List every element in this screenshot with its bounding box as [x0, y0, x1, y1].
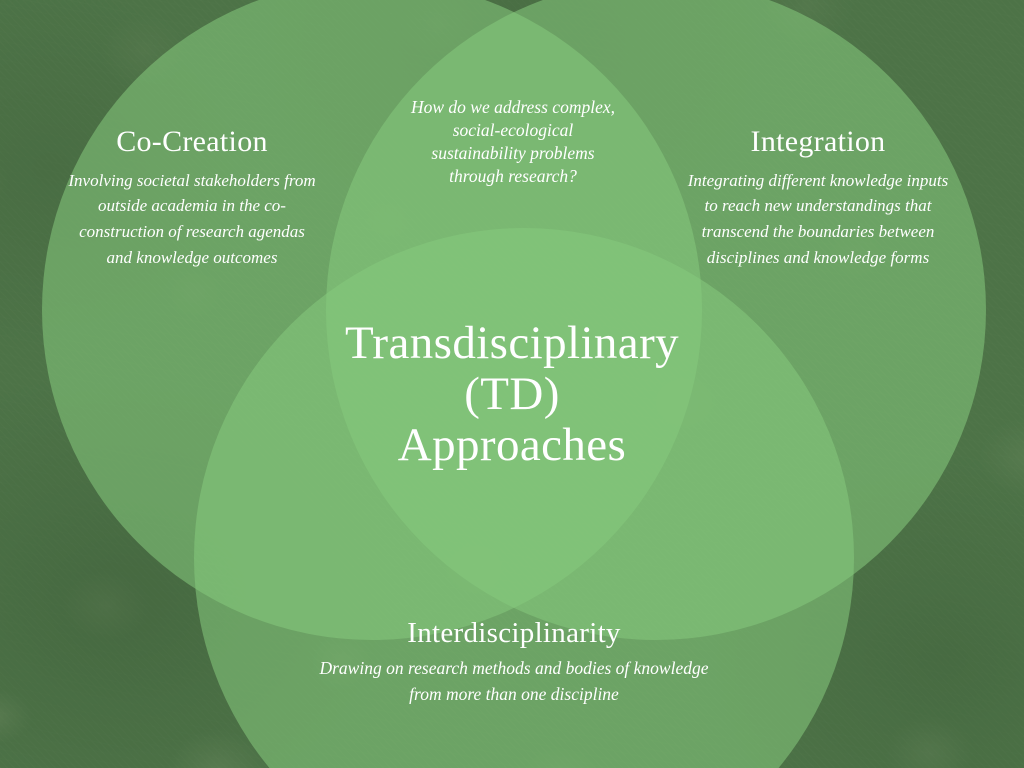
question-line-4: through research?: [449, 166, 577, 186]
center-title-line-1: Transdisciplinary: [345, 317, 679, 369]
description-interdisciplinarity: Drawing on research methods and bodies o…: [307, 656, 721, 706]
framing-question: How do we address complex, social-ecolog…: [368, 96, 658, 188]
center-title: Transdisciplinary (TD) Approaches: [292, 318, 732, 470]
description-co-creation: Involving societal stakeholders from out…: [68, 168, 316, 271]
label-integration: Integration Integrating different knowle…: [684, 126, 952, 271]
question-line-1: How do we address complex,: [411, 97, 615, 117]
center-title-block: Transdisciplinary (TD) Approaches: [292, 318, 732, 470]
question-line-2: social-ecological: [453, 120, 574, 140]
heading-co-creation: Co-Creation: [68, 126, 316, 158]
label-co-creation: Co-Creation Involving societal stakehold…: [68, 126, 316, 271]
framing-question-text: How do we address complex, social-ecolog…: [368, 96, 658, 188]
venn-diagram-slide: How do we address complex, social-ecolog…: [0, 0, 1024, 768]
question-line-3: sustainability problems: [431, 143, 594, 163]
center-title-line-2: (TD): [464, 368, 560, 420]
heading-interdisciplinarity: Interdisciplinarity: [307, 618, 721, 648]
description-integration: Integrating different knowledge inputs t…: [684, 168, 952, 271]
heading-integration: Integration: [684, 126, 952, 158]
label-interdisciplinarity: Interdisciplinarity Drawing on research …: [307, 618, 721, 707]
text-layer: How do we address complex, social-ecolog…: [0, 0, 1024, 768]
center-title-line-3: Approaches: [398, 419, 626, 471]
